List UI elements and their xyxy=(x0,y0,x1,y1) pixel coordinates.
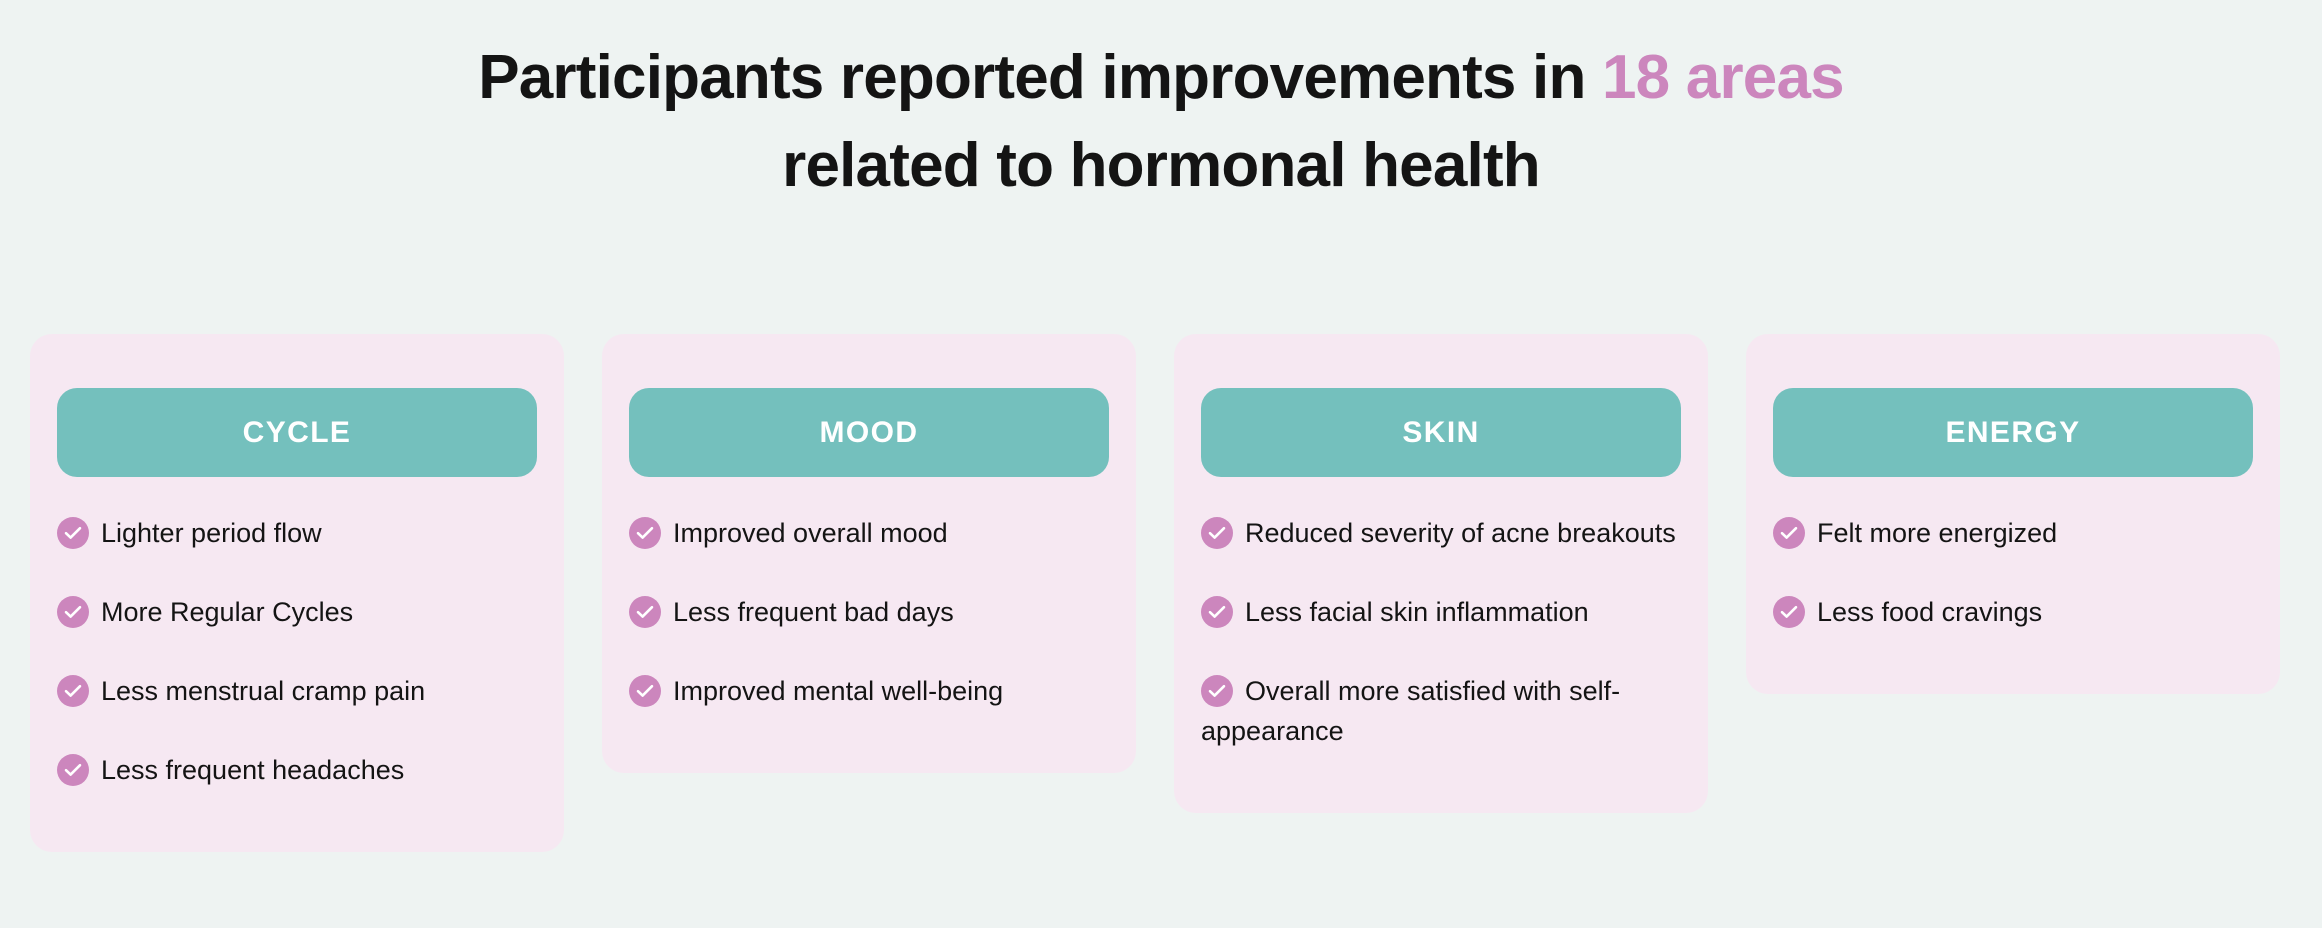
list-item-label: Less frequent bad days xyxy=(673,597,954,627)
page-title-part-3: related to hormonal health xyxy=(782,131,1540,200)
card-list-skin: Reduced severity of acne breakouts Less … xyxy=(1201,513,1681,751)
card-header-energy: ENERGY xyxy=(1773,388,2253,477)
card-header-label: ENERGY xyxy=(1945,416,2080,450)
page-title-text: Participants reported improvements in 18… xyxy=(431,34,1891,210)
check-circle-icon xyxy=(1201,517,1233,549)
card-header-label: CYCLE xyxy=(243,416,352,450)
card-list-energy: Felt more energized Less food cravings xyxy=(1773,513,2253,632)
card-header-skin: SKIN xyxy=(1201,388,1681,477)
list-item-label: Improved overall mood xyxy=(673,518,948,548)
list-item-label: Reduced severity of acne breakouts xyxy=(1245,518,1676,548)
list-item: Overall more satisfied with self-appeara… xyxy=(1201,671,1681,751)
list-item: Reduced severity of acne breakouts xyxy=(1201,513,1681,553)
check-circle-icon xyxy=(57,675,89,707)
card-cycle: CYCLE Lighter period flow More Regular C… xyxy=(30,334,564,852)
list-item: Less frequent bad days xyxy=(629,592,1109,632)
card-list-cycle: Lighter period flow More Regular Cycles … xyxy=(57,513,537,790)
list-item: Improved overall mood xyxy=(629,513,1109,553)
page-title-part-1: Participants reported improvements in xyxy=(478,43,1602,112)
list-item-label: Less food cravings xyxy=(1817,597,2042,627)
list-item: Improved mental well-being xyxy=(629,671,1109,711)
card-mood: MOOD Improved overall mood Less frequent… xyxy=(602,334,1136,773)
infographic-page: Participants reported improvements in 18… xyxy=(0,0,2322,928)
card-header-label: SKIN xyxy=(1402,416,1479,450)
list-item: Less frequent headaches xyxy=(57,750,537,790)
check-circle-icon xyxy=(1201,596,1233,628)
check-circle-icon xyxy=(629,517,661,549)
card-header-mood: MOOD xyxy=(629,388,1109,477)
list-item: More Regular Cycles xyxy=(57,592,537,632)
list-item: Less menstrual cramp pain xyxy=(57,671,537,711)
check-circle-icon xyxy=(57,754,89,786)
list-item-label: Improved mental well-being xyxy=(673,676,1003,706)
check-circle-icon xyxy=(57,517,89,549)
check-circle-icon xyxy=(57,596,89,628)
list-item-label: Lighter period flow xyxy=(101,518,322,548)
page-title-highlight: 18 areas xyxy=(1602,43,1844,112)
page-title: Participants reported improvements in 18… xyxy=(0,34,2322,210)
card-header-cycle: CYCLE xyxy=(57,388,537,477)
list-item: Less facial skin inflammation xyxy=(1201,592,1681,632)
check-circle-icon xyxy=(1773,596,1805,628)
list-item-label: Less menstrual cramp pain xyxy=(101,676,425,706)
list-item-label: Overall more satisfied with self-appeara… xyxy=(1201,676,1620,746)
list-item-label: More Regular Cycles xyxy=(101,597,353,627)
list-item-label: Less facial skin inflammation xyxy=(1245,597,1589,627)
check-circle-icon xyxy=(629,596,661,628)
card-skin: SKIN Reduced severity of acne breakouts … xyxy=(1174,334,1708,813)
check-circle-icon xyxy=(1773,517,1805,549)
card-list-mood: Improved overall mood Less frequent bad … xyxy=(629,513,1109,711)
card-energy: ENERGY Felt more energized Less food cra… xyxy=(1746,334,2280,694)
category-cards: CYCLE Lighter period flow More Regular C… xyxy=(30,334,2292,852)
list-item: Less food cravings xyxy=(1773,592,2253,632)
list-item-label: Felt more energized xyxy=(1817,518,2057,548)
list-item-label: Less frequent headaches xyxy=(101,755,404,785)
list-item: Felt more energized xyxy=(1773,513,2253,553)
card-header-label: MOOD xyxy=(820,416,919,450)
list-item: Lighter period flow xyxy=(57,513,537,553)
check-circle-icon xyxy=(629,675,661,707)
check-circle-icon xyxy=(1201,675,1233,707)
